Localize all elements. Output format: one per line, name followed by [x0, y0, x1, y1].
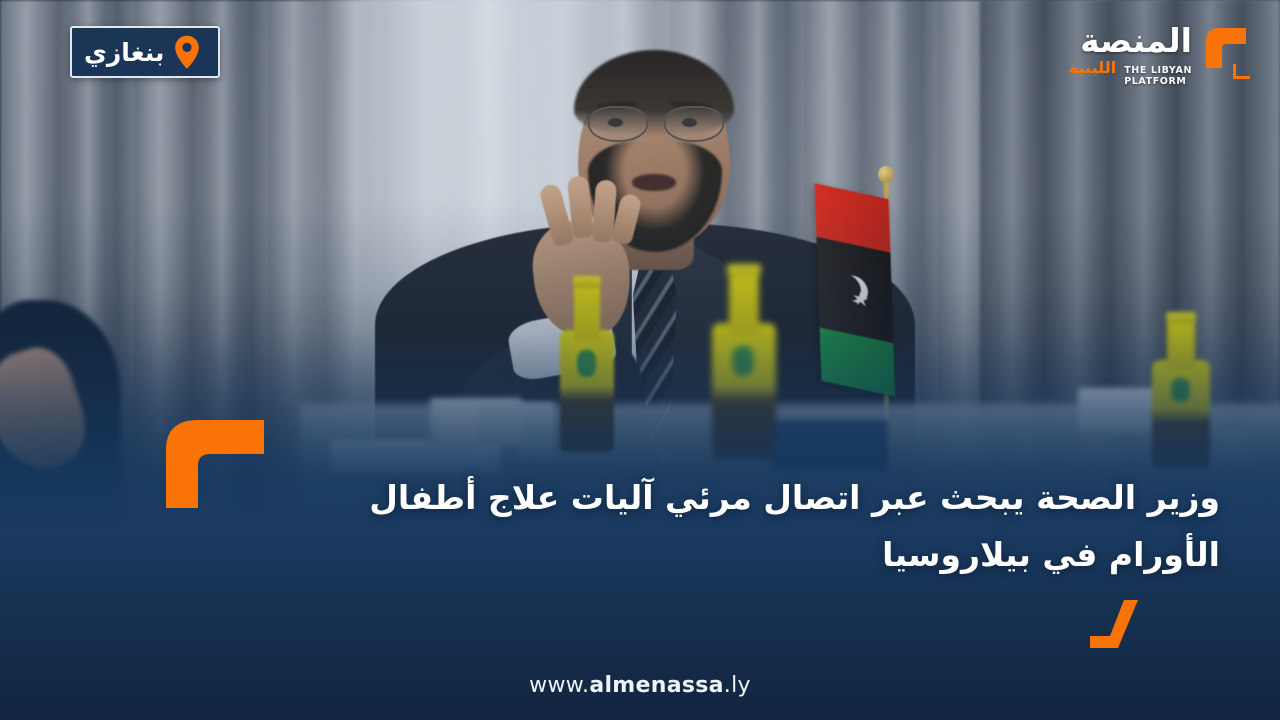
news-card: ★ بنغازي المنصة الل — [0, 0, 1280, 720]
logo-wordmark: المنصة الليبية THE LIBYAN PLATFORM — [1069, 18, 1192, 87]
logo-english-line1: THE LIBYAN — [1124, 65, 1192, 76]
orange-corner-icon — [1090, 600, 1154, 654]
orange-bracket-icon — [1200, 22, 1258, 86]
map-pin-icon — [174, 35, 200, 69]
site-logo[interactable]: المنصة الليبية THE LIBYAN PLATFORM — [1069, 18, 1258, 87]
decor-bracket-bottom-right — [1090, 600, 1154, 654]
logo-english: THE LIBYAN PLATFORM — [1124, 65, 1192, 87]
url-prefix: www. — [529, 673, 589, 698]
url-suffix: .ly — [724, 673, 751, 698]
footer-url[interactable]: www.almenassa.ly — [0, 673, 1280, 698]
logo-english-line2: PLATFORM — [1124, 76, 1186, 87]
logo-subline: الليبية THE LIBYAN PLATFORM — [1069, 60, 1192, 87]
location-badge[interactable]: بنغازي — [70, 26, 220, 78]
headline-line-2: الأورام في بيلاروسيا — [150, 527, 1220, 584]
logo-bracket-mark — [1200, 22, 1258, 86]
headline-line-1: وزير الصحة يبحث عبر اتصال مرئي آليات علا… — [150, 470, 1220, 527]
headline: وزير الصحة يبحث عبر اتصال مرئي آليات علا… — [150, 470, 1220, 584]
logo-arabic-sub: الليبية — [1069, 60, 1116, 76]
location-label: بنغازي — [84, 40, 164, 65]
url-brand: almenassa — [589, 673, 723, 698]
logo-arabic-main: المنصة — [1080, 24, 1192, 57]
navy-tint — [0, 0, 1280, 720]
